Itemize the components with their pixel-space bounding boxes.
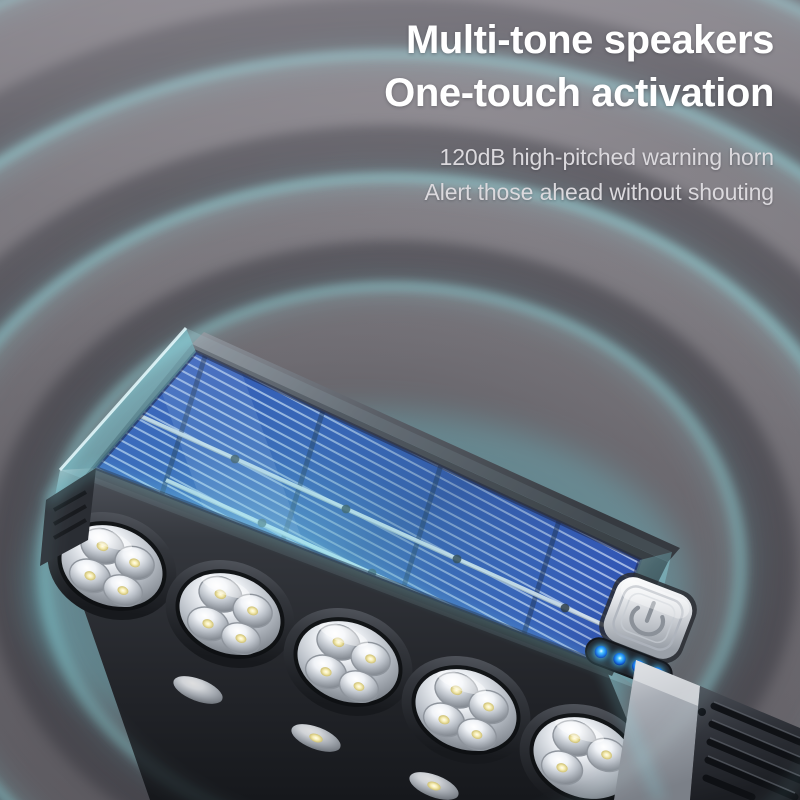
subline-2: Alert those ahead without shouting bbox=[0, 175, 774, 210]
subline-1: 120dB high-pitched warning horn bbox=[0, 140, 774, 175]
headline-line-2: One-touch activation bbox=[0, 67, 774, 120]
headline-line-1: Multi-tone speakers bbox=[0, 14, 774, 67]
marketing-copy: Multi-tone speakers One-touch activation… bbox=[0, 14, 774, 210]
product-feature-banner: Multi-tone speakers One-touch activation… bbox=[0, 0, 800, 800]
subcopy-block: 120dB high-pitched warning horn Alert th… bbox=[0, 140, 774, 210]
